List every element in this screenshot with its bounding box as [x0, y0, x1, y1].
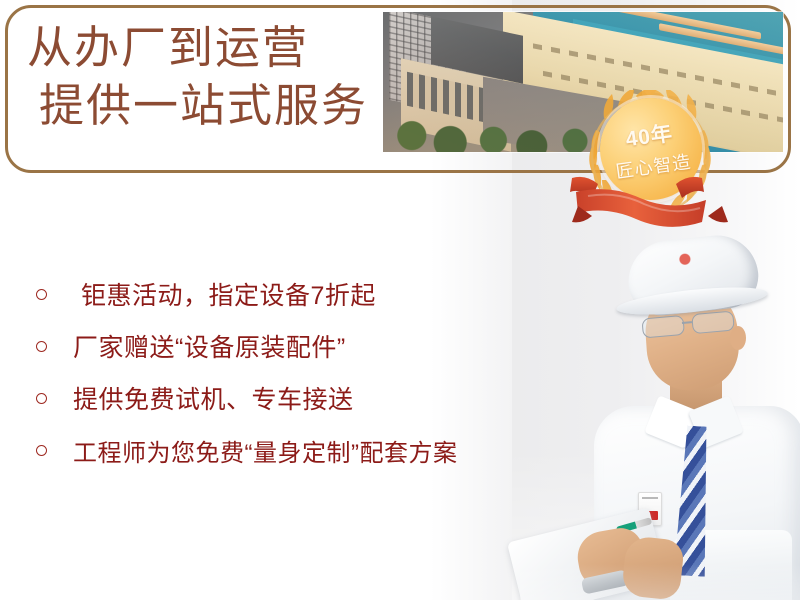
- hard-hat-logo: [671, 251, 699, 270]
- promo-banner: 从办厂到运营 提供一站式服务: [0, 0, 800, 600]
- ribbon-icon: [566, 172, 734, 234]
- offer-text: 提供免费试机、专车接送: [73, 380, 354, 416]
- headline-line-2: 提供一站式服务: [27, 78, 377, 136]
- list-item: 厂家赠送“设备原装配件”: [30, 320, 500, 372]
- bullet-circle-icon: [36, 445, 47, 456]
- offer-text: 厂家赠送“设备原装配件”: [73, 328, 346, 364]
- offer-list: 钜惠活动，指定设备7折起 厂家赠送“设备原装配件” 提供免费试机、专车接送 工程…: [30, 268, 500, 476]
- list-item: 钜惠活动，指定设备7折起: [30, 268, 500, 320]
- list-item: 工程师为您免费“量身定制”配套方案: [30, 424, 500, 476]
- anniversary-badge: 40年 匠心智造: [566, 84, 734, 234]
- person-hand-right: [621, 535, 685, 600]
- bullet-circle-icon: [36, 289, 47, 300]
- bullet-circle-icon: [36, 341, 47, 352]
- bullet-circle-icon: [36, 393, 47, 404]
- headline-line-1: 从办厂到运营: [27, 20, 377, 78]
- offer-text: 钜惠活动，指定设备7折起: [73, 276, 376, 312]
- badge-years: 40年: [623, 116, 674, 152]
- person-ear: [730, 326, 746, 350]
- offer-text: 工程师为您免费“量身定制”配套方案: [73, 433, 457, 468]
- list-item: 提供免费试机、专车接送: [30, 372, 500, 424]
- engineer-photo: [520, 230, 800, 600]
- page-title: 从办厂到运营 提供一站式服务: [27, 20, 377, 135]
